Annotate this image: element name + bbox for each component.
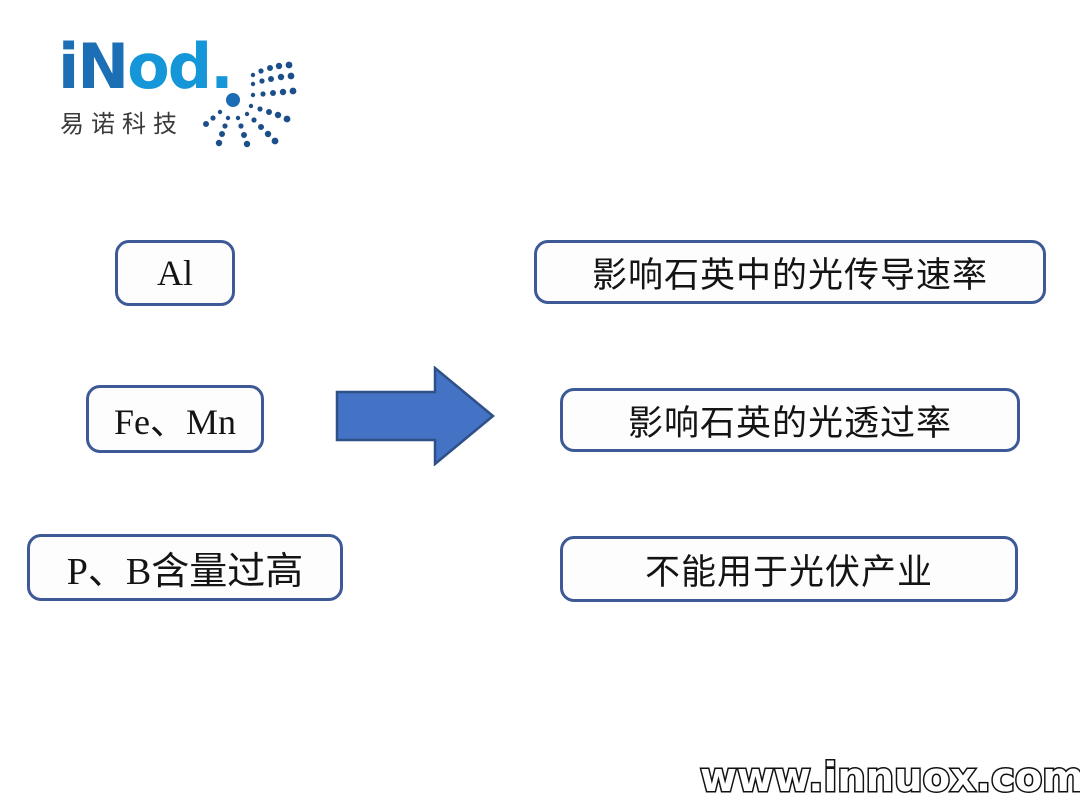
cause-label-al: Al	[157, 252, 193, 294]
effect-box-photovoltaic[interactable]: 不能用于光伏产业	[560, 536, 1018, 602]
effect-label-photovoltaic: 不能用于光伏产业	[645, 544, 933, 595]
effect-label-transmittance: 影响石英的光透过率	[628, 395, 952, 446]
logo-wordmark-part2: od	[127, 30, 210, 103]
cause-box-al[interactable]: Al	[115, 240, 235, 306]
cause-label-pb: P、B含量过高	[67, 540, 303, 595]
logo-wordmark-part1: iN	[58, 30, 127, 103]
slide-canvas: iNod. 易诺科技	[0, 0, 1080, 810]
effect-box-light-speed[interactable]: 影响石英中的光传导速率	[534, 240, 1046, 304]
starburst-dots-icon	[203, 48, 318, 153]
effect-box-transmittance[interactable]: 影响石英的光透过率	[560, 388, 1020, 452]
right-arrow-icon	[335, 366, 495, 466]
cause-label-femn: Fe、Mn	[114, 393, 236, 445]
company-logo: iNod. 易诺科技	[58, 36, 318, 156]
effect-label-light-speed: 影响石英中的光传导速率	[592, 247, 988, 298]
cause-box-femn[interactable]: Fe、Mn	[86, 385, 264, 453]
site-watermark: www.innuox.com	[700, 755, 1080, 801]
logo-subtitle: 易诺科技	[60, 104, 184, 139]
cause-box-pb[interactable]: P、B含量过高	[27, 534, 343, 601]
